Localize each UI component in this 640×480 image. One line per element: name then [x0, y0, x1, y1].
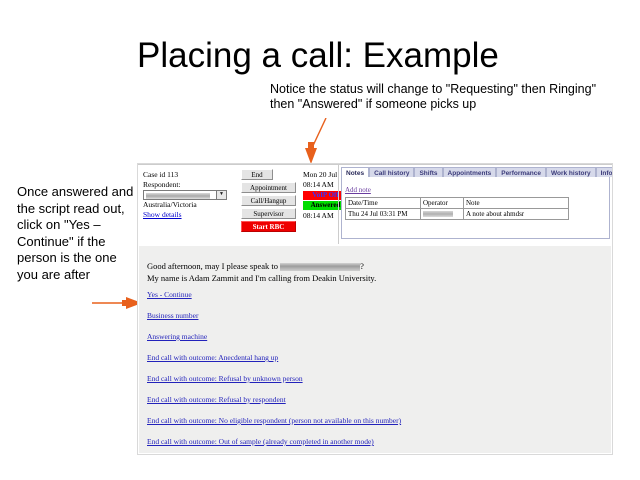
- link-answering-machine[interactable]: Answering machine: [147, 332, 207, 341]
- respondent-select[interactable]: ▼: [143, 190, 227, 200]
- link-outcome-out-of-sample[interactable]: End call with outcome: Out of sample (al…: [147, 437, 374, 446]
- embedded-app-screenshot: Case id 113 Respondent: ▼ Australia/Vict…: [137, 163, 613, 455]
- script-outcome-links: Yes - Continue Business number Answering…: [147, 290, 607, 455]
- case-id-label: Case id 113: [143, 170, 238, 180]
- tab-info[interactable]: Info: [596, 167, 613, 177]
- operator-redacted: [423, 211, 453, 217]
- add-note-link[interactable]: Add note: [345, 186, 371, 194]
- show-details-link[interactable]: Show details: [143, 210, 182, 219]
- tab-shifts[interactable]: Shifts: [414, 167, 442, 177]
- call-hangup-button[interactable]: Call/Hangup: [241, 195, 296, 206]
- notes-tab-content: Add note Date/Time Operator Note Thu 24 …: [341, 177, 610, 239]
- link-outcome-refusal-respondent[interactable]: End call with outcome: Refusal by respon…: [147, 395, 286, 404]
- chevron-down-icon[interactable]: ▼: [216, 191, 226, 199]
- link-yes-continue[interactable]: Yes - Continue: [147, 290, 192, 299]
- region-label: Australia/Victoria: [143, 200, 238, 210]
- link-outcome-refusal-unknown-person[interactable]: End call with outcome: Refusal by unknow…: [147, 374, 303, 383]
- tab-appointments[interactable]: Appointments: [443, 167, 497, 177]
- end-button[interactable]: End: [241, 169, 273, 180]
- script-panel: Good afternoon, may I please speak to ? …: [139, 245, 611, 453]
- link-outcome-anecdental-hang-up[interactable]: End call with outcome: Anecdental hang u…: [147, 353, 278, 362]
- script-text: Good afternoon, may I please speak to ? …: [147, 260, 376, 284]
- link-outcome-no-eligible-respondent[interactable]: End call with outcome: No eligible respo…: [147, 416, 401, 425]
- tabs-panel: Notes Call history Shifts Appointments P…: [341, 166, 610, 239]
- page-title: Placing a call: Example: [137, 36, 499, 76]
- case-details-column: Case id 113 Respondent: ▼ Australia/Vict…: [143, 170, 238, 219]
- respondent-name-redacted: [280, 263, 360, 271]
- tab-work-history[interactable]: Work history: [546, 167, 596, 177]
- script-line-1-before: Good afternoon, may I please speak to: [147, 261, 280, 271]
- callout-yes-continue-note: Once answered and the script read out, c…: [17, 184, 135, 283]
- column-header-note: Note: [464, 198, 569, 209]
- cell-note: A note about ahmdsr: [464, 209, 569, 220]
- callout-status-note: Notice the status will change to "Reques…: [270, 82, 600, 112]
- supervisor-button[interactable]: Supervisor: [241, 208, 296, 219]
- notes-table: Date/Time Operator Note Thu 24 Jul 03:31…: [345, 197, 569, 220]
- tab-performance[interactable]: Performance: [496, 167, 546, 177]
- script-line-2: My name is Adam Zammit and I'm calling f…: [147, 272, 376, 284]
- start-rbc-button[interactable]: Start RBC: [241, 221, 296, 232]
- app-top-panel: Case id 113 Respondent: ▼ Australia/Vict…: [138, 164, 612, 245]
- cell-datetime: Thu 24 Jul 03:31 PM: [346, 209, 421, 220]
- table-header-row: Date/Time Operator Note: [346, 198, 569, 209]
- link-business-number[interactable]: Business number: [147, 311, 198, 320]
- panel-divider: [338, 164, 339, 244]
- column-header-operator: Operator: [421, 198, 464, 209]
- cell-operator: [421, 209, 464, 220]
- tab-call-history[interactable]: Call history: [369, 167, 414, 177]
- tab-notes[interactable]: Notes: [341, 167, 369, 177]
- tab-bar: Notes Call history Shifts Appointments P…: [341, 166, 610, 177]
- appointment-button[interactable]: Appointment: [241, 182, 296, 193]
- call-action-buttons: End Appointment Call/Hangup Supervisor S…: [241, 169, 296, 234]
- table-row[interactable]: Thu 24 Jul 03:31 PM A note about ahmdsr: [346, 209, 569, 220]
- respondent-value-redacted: [146, 193, 210, 199]
- respondent-label: Respondent:: [143, 180, 238, 190]
- column-header-datetime: Date/Time: [346, 198, 421, 209]
- script-line-1: Good afternoon, may I please speak to ?: [147, 260, 376, 272]
- script-line-1-after: ?: [360, 261, 364, 271]
